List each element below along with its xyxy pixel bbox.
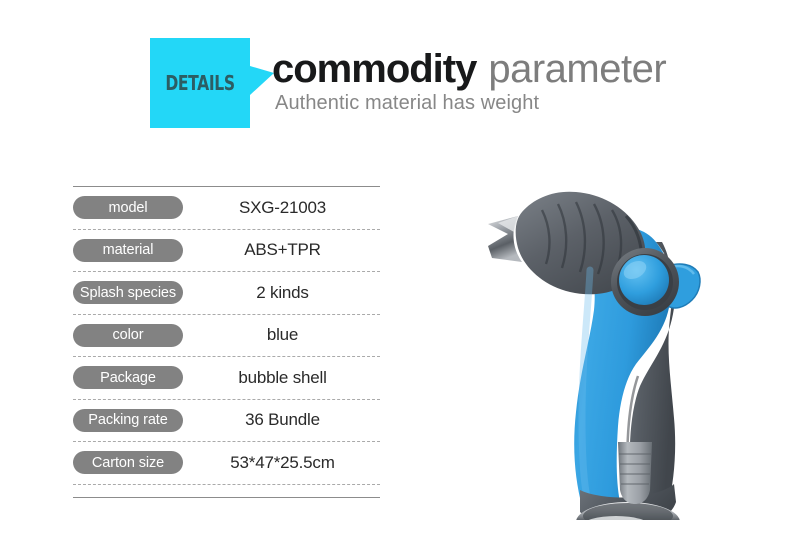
details-badge: DETAILS — [150, 38, 250, 128]
spec-value: bubble shell — [191, 368, 380, 388]
spec-label-cell: Package — [73, 366, 191, 389]
table-row: Package bubble shell — [73, 357, 380, 400]
spec-label-cell: material — [73, 239, 191, 262]
spec-label-cell: color — [73, 324, 191, 347]
dial-button[interactable] — [619, 255, 669, 305]
spec-label-cell: Carton size — [73, 451, 191, 474]
table-row: Packing rate 36 Bundle — [73, 400, 380, 443]
page-title-primary: commodity — [272, 47, 476, 91]
page-title: commodityparameter — [272, 45, 666, 93]
table-row: Carton size 53*47*25.5cm — [73, 442, 380, 485]
spec-value: 2 kinds — [191, 283, 380, 303]
spec-label-cell: Packing rate — [73, 409, 191, 432]
connector-body — [618, 442, 652, 504]
specification-table: model SXG-21003 material ABS+TPR Splash … — [73, 186, 380, 498]
spec-value: 53*47*25.5cm — [191, 453, 380, 473]
spec-label-pill: Carton size — [73, 451, 183, 474]
spec-label-cell: Splash species — [73, 281, 191, 304]
spec-value: blue — [191, 325, 380, 345]
spec-value: ABS+TPR — [191, 240, 380, 260]
spec-label-pill: Packing rate — [73, 409, 183, 432]
spec-label-pill: Package — [73, 366, 183, 389]
hose-connector — [600, 440, 670, 520]
details-badge-pointer-icon — [250, 66, 274, 95]
spec-label-pill: model — [73, 196, 183, 219]
product-photo-spray-nozzle — [430, 150, 760, 520]
spec-label-pill: material — [73, 239, 183, 262]
table-row: material ABS+TPR — [73, 230, 380, 273]
table-row: color blue — [73, 315, 380, 358]
page-subtitle: Authentic material has weight — [275, 92, 539, 115]
spec-label-cell: model — [73, 196, 191, 219]
table-row: model SXG-21003 — [73, 187, 380, 230]
spec-value: SXG-21003 — [191, 198, 380, 218]
table-row: Splash species 2 kinds — [73, 272, 380, 315]
details-badge-label: DETAILS — [161, 38, 239, 128]
table-bottom-spacer — [73, 485, 380, 497]
page-header: DETAILS commodityparameter Authentic mat… — [0, 0, 790, 150]
spec-value: 36 Bundle — [191, 410, 380, 430]
page-title-secondary: parameter — [488, 47, 666, 91]
spec-label-pill: color — [73, 324, 183, 347]
spec-label-pill: Splash species — [73, 281, 183, 304]
